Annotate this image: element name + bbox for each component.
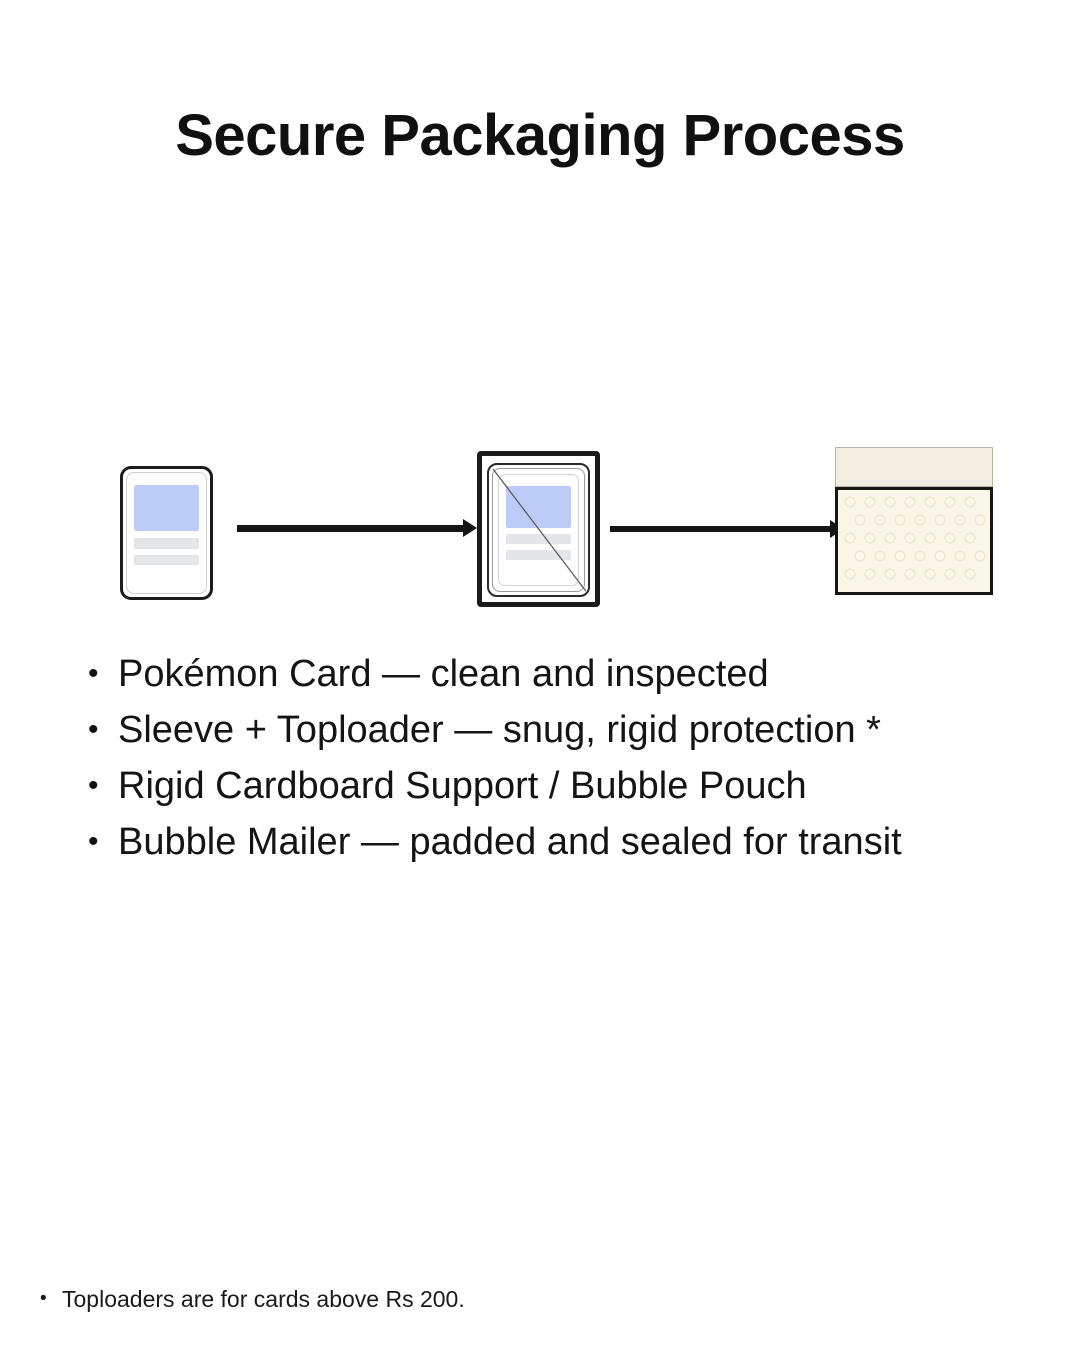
bullet-marker-icon: • bbox=[88, 814, 118, 870]
bullet-marker-icon: • bbox=[88, 646, 118, 702]
mailer-body bbox=[835, 487, 993, 595]
footnote-text: Toploaders are for cards above Rs 200. bbox=[62, 1282, 465, 1316]
packaging-flow-diagram bbox=[0, 430, 1080, 630]
arrow-card-to-toploader-head bbox=[463, 519, 477, 537]
slide-canvas: Secure Packaging Process bbox=[0, 0, 1080, 1350]
diagram-step-pokemon-card bbox=[120, 466, 213, 600]
bubble-wrap-texture bbox=[838, 490, 990, 592]
footnote: • Toploaders are for cards above Rs 200. bbox=[40, 1282, 840, 1316]
arrow-card-to-toploader-line bbox=[237, 525, 465, 532]
list-item: • Rigid Cardboard Support / Bubble Pouch bbox=[88, 758, 1048, 814]
list-item-label: Rigid Cardboard Support / Bubble Pouch bbox=[118, 758, 1048, 814]
card-text-line-2 bbox=[506, 550, 571, 560]
card-text-line-1 bbox=[506, 534, 571, 544]
diagram-step-bubble-mailer bbox=[835, 447, 993, 595]
footnote-bullet-marker-icon: • bbox=[40, 1282, 62, 1316]
packaging-steps-list: • Pokémon Card — clean and inspected • S… bbox=[88, 646, 1048, 870]
card-text-line-1 bbox=[134, 538, 199, 549]
list-item-label: Sleeve + Toploader — snug, rigid protect… bbox=[118, 702, 1048, 758]
card-inside-sleeve bbox=[498, 474, 579, 586]
diagram-step-sleeve-toploader bbox=[477, 451, 600, 607]
mailer-flap bbox=[835, 447, 993, 487]
card-sleeve bbox=[487, 463, 590, 597]
card-artwork-block bbox=[134, 485, 199, 531]
card-artwork-block bbox=[506, 486, 571, 528]
list-item-label: Bubble Mailer — padded and sealed for tr… bbox=[118, 814, 1048, 870]
list-item: • Pokémon Card — clean and inspected bbox=[88, 646, 1048, 702]
list-item: • Bubble Mailer — padded and sealed for … bbox=[88, 814, 1048, 870]
list-item-label: Pokémon Card — clean and inspected bbox=[118, 646, 1048, 702]
list-item: • Sleeve + Toploader — snug, rigid prote… bbox=[88, 702, 1048, 758]
bullet-marker-icon: • bbox=[88, 758, 118, 814]
card-inner-border bbox=[126, 472, 207, 594]
arrow-toploader-to-mailer-line bbox=[610, 526, 832, 532]
page-title: Secure Packaging Process bbox=[0, 104, 1080, 168]
bullet-marker-icon: • bbox=[88, 702, 118, 758]
card-text-line-2 bbox=[134, 555, 199, 566]
